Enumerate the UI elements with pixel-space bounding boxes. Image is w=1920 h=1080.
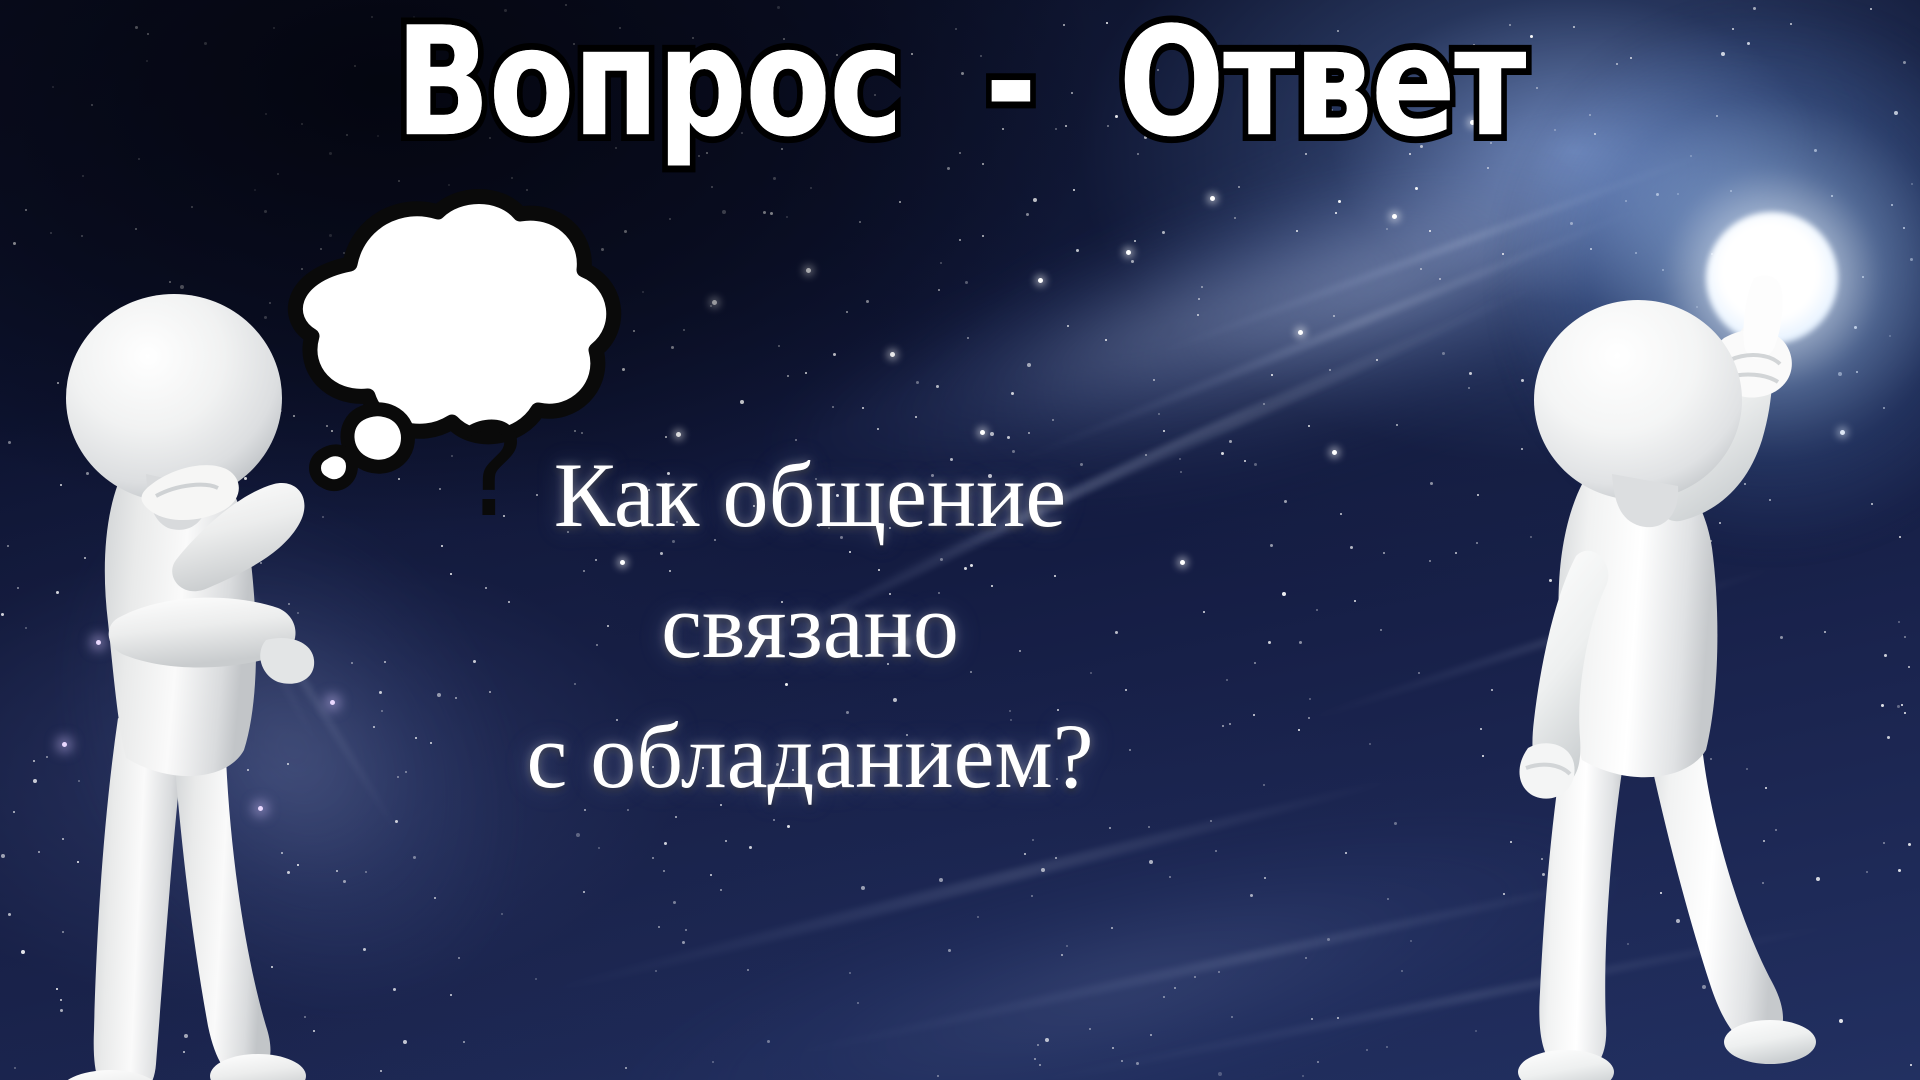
thought-bubble-cloud [295, 197, 613, 437]
thought-bubble-tail-small [315, 450, 352, 485]
question-line-3: с обладанием? [430, 691, 1190, 822]
thumbnail-canvas: ? Вопрос - Ответ Вопрос - Ответ Как обще… [0, 0, 1920, 1080]
page-title-outline: Вопрос - Ответ [115, 8, 1805, 159]
question-line-2: связано [430, 561, 1190, 692]
question-line-1: Как общение [430, 430, 1190, 561]
question-text: Как общение связано с обладанием? [430, 430, 1190, 822]
